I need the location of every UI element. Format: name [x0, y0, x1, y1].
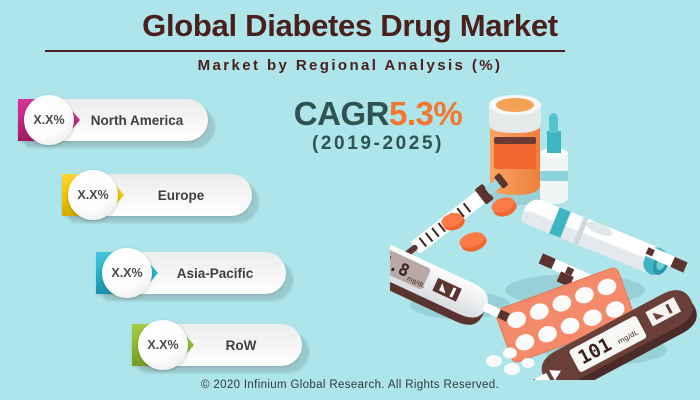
insulin-pen-icon: [519, 195, 672, 279]
legend-item-europe[interactable]: X.X% Europe: [62, 174, 252, 216]
pill-percent-bubble: X.X%: [102, 248, 152, 298]
pill-region-label: RoW: [194, 324, 288, 366]
cagr-label: CAGR: [294, 95, 389, 132]
pill-region-label: Asia-Pacific: [158, 252, 272, 294]
infographic-canvas: Global Diabetes Drug Market Market by Re…: [0, 0, 700, 400]
pill-region-label: Europe: [124, 174, 238, 216]
footer-copyright: © 2020 Infinium Global Research. All Rig…: [0, 379, 700, 391]
pill-percent-bubble: X.X%: [138, 320, 188, 370]
pill-percent-bubble: X.X%: [68, 170, 118, 220]
dropper-bottle-icon: [540, 113, 568, 204]
pill-percent-bubble: X.X%: [24, 95, 74, 145]
page-title: Global Diabetes Drug Market: [0, 8, 700, 44]
title-underline: [45, 50, 565, 52]
glucose-meter-left: 5.8 mg/dL: [390, 228, 515, 340]
page-subtitle: Market by Regional Analysis (%): [0, 57, 700, 74]
diabetes-supplies-illustration: 5.8 mg/dL 101 mg/dL: [390, 75, 700, 380]
pill-region-label: North America: [80, 99, 194, 141]
legend-item-north-america[interactable]: X.X% North America: [18, 99, 208, 141]
legend-item-row[interactable]: X.X% RoW: [132, 324, 302, 366]
legend-item-asia-pacific[interactable]: X.X% Asia-Pacific: [96, 252, 286, 294]
